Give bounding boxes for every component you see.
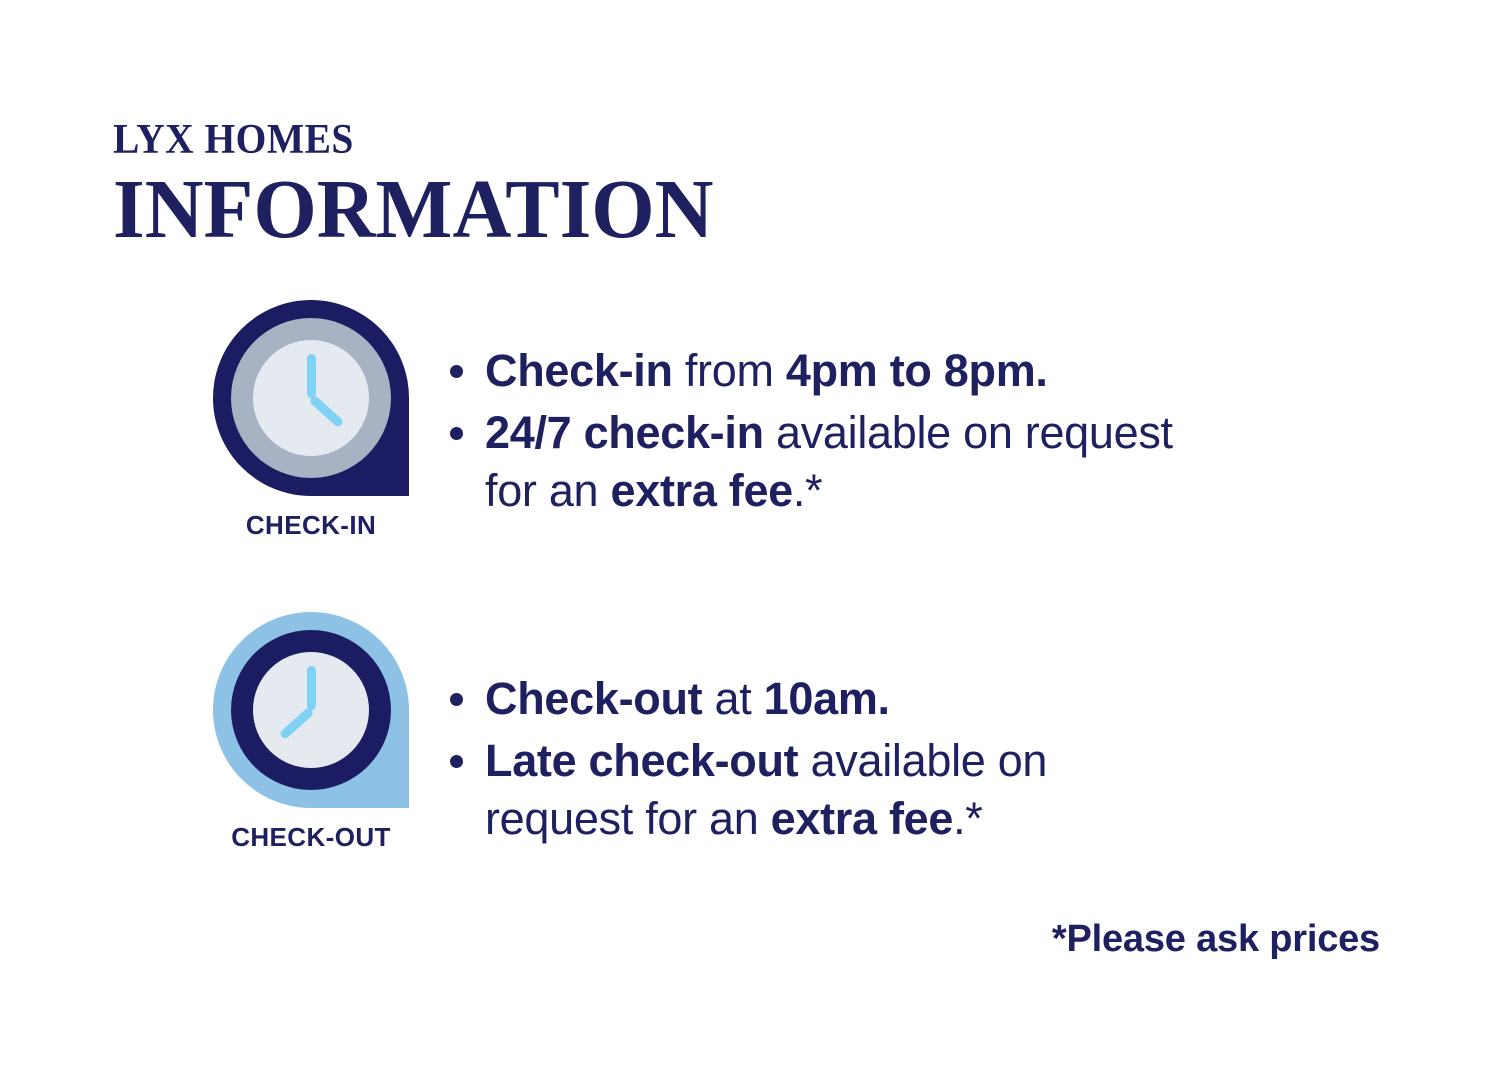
- clock-ring: [231, 630, 391, 790]
- clock-face: [253, 340, 369, 456]
- list-item: 24/7 check-in available on request for a…: [450, 404, 1190, 520]
- check-in-icon-block: CHECK-IN: [196, 300, 426, 541]
- list-item: Check-out at 10am.: [450, 670, 1190, 728]
- clock-minute-hand: [307, 354, 316, 398]
- check-in-label: CHECK-IN: [246, 510, 376, 541]
- bullet-text: 24/7 check-in available on request for a…: [485, 404, 1190, 520]
- section-check-in: CHECK-IN Check-in from 4pm to 8pm. 24/7 …: [196, 300, 1190, 541]
- bullet-dot-icon: [450, 427, 463, 440]
- clock-pin-icon: [213, 300, 409, 496]
- clock-face: [253, 652, 369, 768]
- bullet-dot-icon: [450, 693, 463, 706]
- brand-name: LYX HOMES: [113, 118, 695, 162]
- bullet-dot-icon: [450, 755, 463, 768]
- list-item: Check-in from 4pm to 8pm.: [450, 342, 1190, 400]
- bullet-text: Check-in from 4pm to 8pm.: [485, 342, 1048, 400]
- bullet-text: Late check-out available on request for …: [485, 732, 1190, 848]
- clock-pin-icon: [213, 612, 409, 808]
- clock-minute-hand: [307, 666, 316, 710]
- bullet-dot-icon: [450, 365, 463, 378]
- clock-hour-hand: [278, 707, 314, 740]
- list-item: Late check-out available on request for …: [450, 732, 1190, 848]
- clock-hour-hand: [308, 395, 344, 428]
- page-title: INFORMATION: [113, 168, 714, 252]
- footnote: *Please ask prices: [1052, 918, 1380, 961]
- check-out-label: CHECK-OUT: [231, 822, 391, 853]
- check-in-bullets: Check-in from 4pm to 8pm. 24/7 check-in …: [450, 300, 1190, 524]
- bullet-text: Check-out at 10am.: [485, 670, 890, 728]
- header: LYX HOMES INFORMATION: [113, 118, 732, 252]
- check-out-icon-block: CHECK-OUT: [196, 612, 426, 853]
- check-out-bullets: Check-out at 10am. Late check-out availa…: [450, 612, 1190, 852]
- clock-ring: [231, 318, 391, 478]
- section-check-out: CHECK-OUT Check-out at 10am. Late check-…: [196, 612, 1190, 853]
- information-slide: LYX HOMES INFORMATION CHECK-IN Check-in …: [0, 0, 1495, 1080]
